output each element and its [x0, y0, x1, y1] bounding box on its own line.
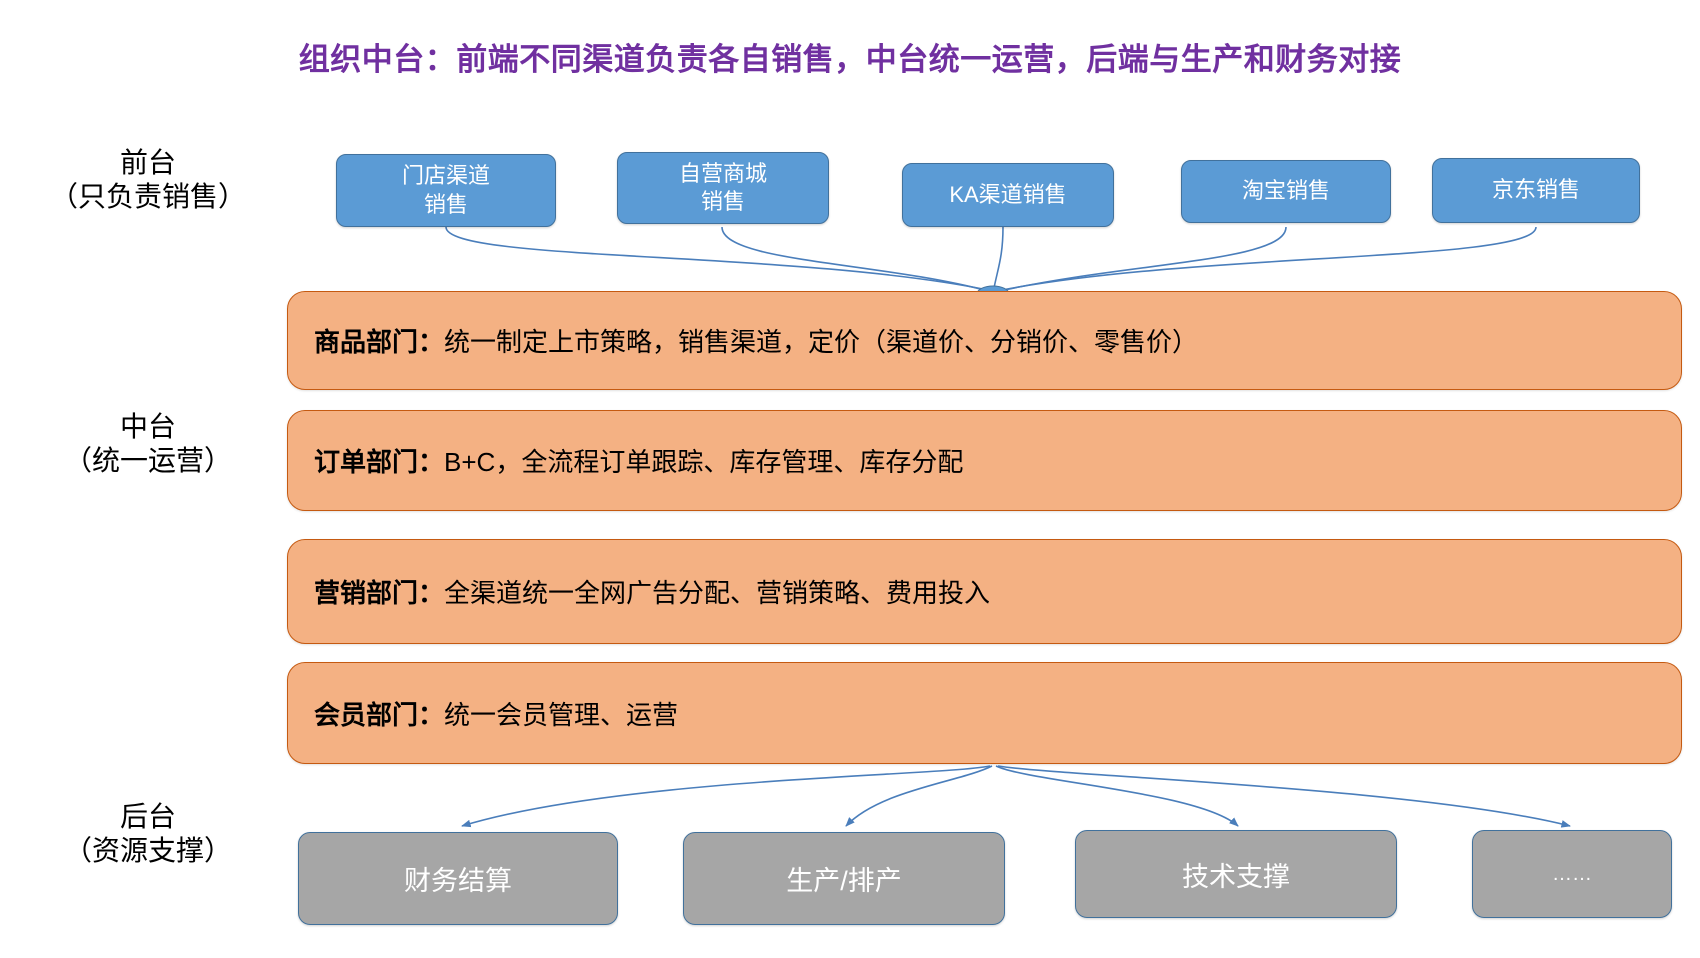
front-box-jd[interactable]: 京东销售 — [1432, 158, 1640, 223]
mid-bar-product-dept[interactable]: 商品部门：统一制定上市策略，销售渠道，定价（渠道价、分销价、零售价） — [287, 291, 1682, 390]
front-box-store-channel[interactable]: 门店渠道 销售 — [336, 154, 556, 227]
front-box-taobao[interactable]: 淘宝销售 — [1181, 160, 1391, 223]
front-box-store-channel-line1: 门店渠道 — [396, 162, 496, 190]
back-box-finance-settlement-label: 财务结算 — [404, 859, 512, 898]
back-box-production-scheduling[interactable]: 生产/排产 — [683, 832, 1005, 925]
mid-bar-marketing-dept[interactable]: 营销部门：全渠道统一全网广告分配、营销策略、费用投入 — [287, 539, 1682, 644]
front-box-taobao-line1: 淘宝销售 — [1236, 177, 1336, 205]
tier-label-mid: 中台 （统一运营） — [18, 410, 278, 478]
front-box-store-channel-line2: 销售 — [396, 191, 496, 219]
mid-bar-product-dept-desc: 统一制定上市策略，销售渠道，定价（渠道价、分销价、零售价） — [444, 327, 1198, 357]
mid-bar-order-dept-desc: B+C，全流程订单跟踪、库存管理、库存分配 — [444, 447, 963, 477]
front-box-own-mall-line1: 自营商城 — [673, 160, 773, 188]
mid-bar-member-dept-desc: 统一会员管理、运营 — [444, 700, 678, 730]
mid-bar-order-dept[interactable]: 订单部门：B+C，全流程订单跟踪、库存管理、库存分配 — [287, 410, 1682, 511]
diagram-canvas: 组织中台：前端不同渠道负责各自销售，中台统一运营，后端与生产和财务对接 前台 （… — [0, 0, 1700, 958]
back-box-production-scheduling-label: 生产/排产 — [786, 859, 902, 898]
page-title: 组织中台：前端不同渠道负责各自销售，中台统一运营，后端与生产和财务对接 — [0, 34, 1700, 79]
back-box-more[interactable]: …… — [1472, 830, 1672, 918]
mid-bar-marketing-dept-text: 营销部门：全渠道统一全网广告分配、营销策略、费用投入 — [288, 573, 990, 610]
front-box-ka-channel-line1: KA渠道销售 — [943, 181, 1072, 209]
tier-label-mid-line1: 中台 — [18, 410, 278, 444]
back-box-finance-settlement[interactable]: 财务结算 — [298, 832, 618, 925]
back-box-tech-support[interactable]: 技术支撑 — [1075, 830, 1397, 918]
tier-label-back-line2: （资源支撑） — [18, 834, 278, 868]
mid-bar-member-dept-label: 会员部门： — [314, 700, 444, 730]
mid-bar-order-dept-label: 订单部门： — [314, 447, 444, 477]
mid-bar-product-dept-label: 商品部门： — [314, 327, 444, 357]
tier-label-front-line1: 前台 — [18, 146, 278, 180]
front-box-jd-line1: 京东销售 — [1486, 176, 1586, 204]
front-box-own-mall[interactable]: 自营商城 销售 — [617, 152, 829, 224]
mid-bar-member-dept[interactable]: 会员部门：统一会员管理、运营 — [287, 662, 1682, 764]
mid-bar-order-dept-text: 订单部门：B+C，全流程订单跟踪、库存管理、库存分配 — [288, 442, 963, 479]
back-box-more-label: …… — [1552, 863, 1592, 886]
back-box-tech-support-label: 技术支撑 — [1182, 855, 1290, 894]
tier-label-front: 前台 （只负责销售） — [18, 146, 278, 214]
mid-bar-product-dept-text: 商品部门：统一制定上市策略，销售渠道，定价（渠道价、分销价、零售价） — [288, 322, 1198, 359]
tier-label-back: 后台 （资源支撑） — [18, 800, 278, 868]
mid-bar-marketing-dept-desc: 全渠道统一全网广告分配、营销策略、费用投入 — [444, 578, 990, 608]
tier-label-mid-line2: （统一运营） — [18, 444, 278, 478]
front-box-own-mall-line2: 销售 — [673, 188, 773, 216]
tier-label-back-line1: 后台 — [18, 800, 278, 834]
front-box-ka-channel[interactable]: KA渠道销售 — [902, 163, 1114, 227]
mid-bar-member-dept-text: 会员部门：统一会员管理、运营 — [288, 695, 678, 732]
mid-bar-marketing-dept-label: 营销部门： — [314, 578, 444, 608]
tier-label-front-line2: （只负责销售） — [18, 180, 278, 214]
